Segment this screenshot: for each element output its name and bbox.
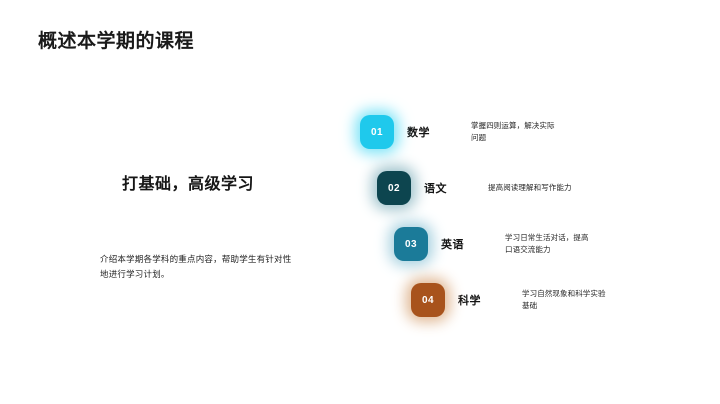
subject-description: 学习日常生活对话，提高口语交流能力 [505, 232, 593, 257]
list-item[interactable]: 01 数学 掌握四则运算，解决实际问题 [360, 104, 700, 160]
left-panel-body: 介绍本学期各学科的重点内容，帮助学生有针对性地进行学习计划。 [38, 252, 300, 282]
subject-description: 掌握四则运算，解决实际问题 [471, 120, 559, 145]
list-item[interactable]: 03 英语 学习日常生活对话，提高口语交流能力 [394, 216, 700, 272]
list-item[interactable]: 04 科学 学习自然现象和科学实验基础 [411, 272, 700, 328]
subject-label: 语文 [424, 180, 447, 196]
slide-canvas: 概述本学期的课程 打基础，高级学习 介绍本学期各学科的重点内容，帮助学生有针对性… [0, 0, 720, 404]
subject-number-badge: 02 [377, 171, 411, 205]
subject-number-badge: 01 [360, 115, 394, 149]
list-item[interactable]: 02 语文 提高阅读理解和写作能力 [377, 160, 700, 216]
left-text-panel: 打基础，高级学习 介绍本学期各学科的重点内容，帮助学生有针对性地进行学习计划。 [38, 170, 328, 282]
subject-number-badge: 03 [394, 227, 428, 261]
subject-description: 提高阅读理解和写作能力 [488, 182, 576, 194]
subject-label: 英语 [441, 236, 464, 252]
subject-number-badge: 04 [411, 283, 445, 317]
left-panel-heading: 打基础，高级学习 [38, 170, 328, 194]
subject-list: 01 数学 掌握四则运算，解决实际问题 02 语文 提高阅读理解和写作能力 03… [360, 104, 700, 328]
subject-label: 数学 [407, 124, 430, 140]
subject-description: 学习自然现象和科学实验基础 [522, 288, 610, 313]
page-title: 概述本学期的课程 [38, 26, 194, 53]
subject-label: 科学 [458, 292, 481, 308]
